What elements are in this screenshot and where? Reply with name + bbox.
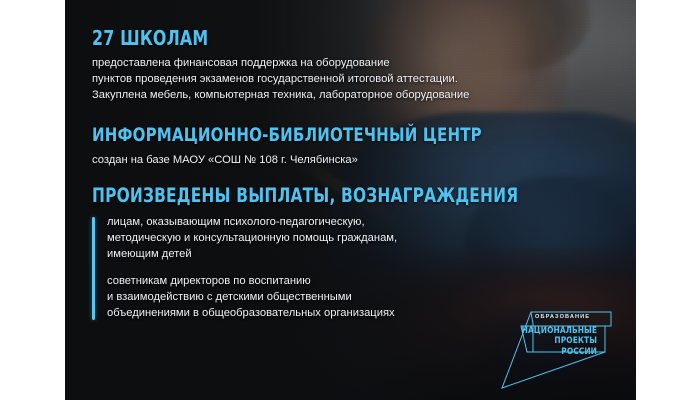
logo-wordmark: НАЦИОНАЛЬНЫЕ ПРОЕКТЫ РОССИИ — [518, 326, 597, 357]
list-item: советникам директоров по воспитанию и вз… — [107, 274, 512, 322]
section-schools-funding: 27 ШКОЛАМ предоставлена финансовая подде… — [92, 28, 512, 104]
section-2-body: создан на базе МАОУ «СОШ № 108 г. Челяби… — [92, 153, 512, 169]
accent-rule — [92, 217, 95, 319]
list-item: лицам, оказывающим психолого-педагогичес… — [107, 215, 512, 263]
logo-line-3: РОССИИ — [518, 347, 597, 357]
logo-kicker-text: ОБРАЗОВАНИЕ — [535, 314, 590, 320]
section-payments-rewards: ПРОИЗВЕДЕНЫ ВЫПЛАТЫ, ВОЗНАГРАЖДЕНИЯ лица… — [92, 186, 512, 322]
section-2-heading: ИНФОРМАЦИОННО-БИБЛИОТЕЧНЫЙ ЦЕНТР — [92, 126, 462, 146]
infographic-slide: 27 ШКОЛАМ предоставлена финансовая подде… — [65, 0, 636, 400]
section-library-center: ИНФОРМАЦИОННО-БИБЛИОТЕЧНЫЙ ЦЕНТР создан … — [92, 126, 512, 169]
section-3-heading: ПРОИЗВЕДЕНЫ ВЫПЛАТЫ, ВОЗНАГРАЖДЕНИЯ — [92, 186, 462, 206]
section-1-heading: 27 ШКОЛАМ — [92, 28, 462, 49]
section-1-body: предоставлена финансовая поддержка на об… — [92, 56, 512, 104]
payments-bullet-list: лицам, оказывающим психолого-педагогичес… — [92, 215, 512, 321]
slide-content: 27 ШКОЛАМ предоставлена финансовая подде… — [92, 0, 512, 400]
page-canvas: 27 ШКОЛАМ предоставлена финансовая подде… — [0, 0, 700, 400]
national-projects-logo: ОБРАЗОВАНИЕ НАЦИОНАЛЬНЫЕ ПРОЕКТЫ РОССИИ — [493, 300, 633, 396]
